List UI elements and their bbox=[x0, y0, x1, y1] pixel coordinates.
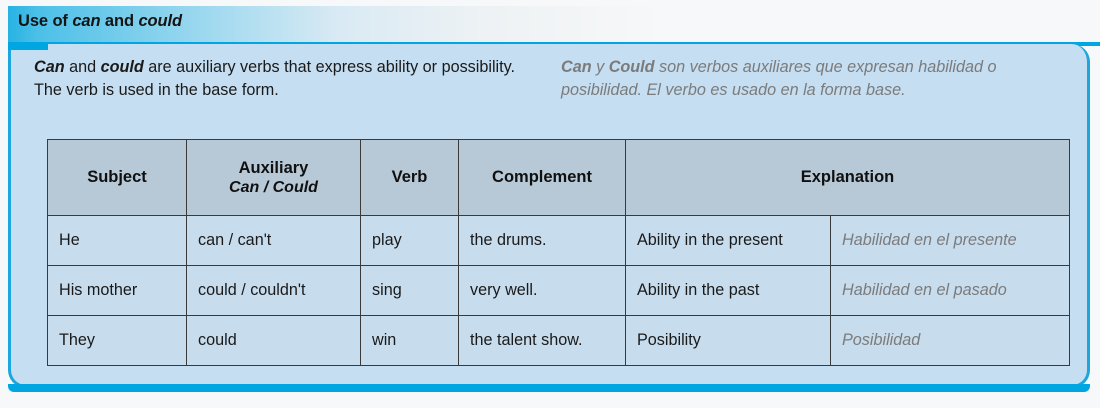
cell-explanation-es: Habilidad en el presente bbox=[831, 216, 1070, 266]
cell-explanation-en: Ability in the past bbox=[626, 266, 831, 316]
cell-explanation-en: Posibility bbox=[626, 316, 831, 366]
column-header-explanation: Explanation bbox=[626, 140, 1070, 216]
intro-section: Can and could are auxiliary verbs that e… bbox=[8, 56, 1090, 130]
cell-explanation-es: Posibilidad bbox=[831, 316, 1070, 366]
grammar-info-card: Use of can and could Can and could are a… bbox=[0, 0, 1100, 408]
intro-en-bold-can: Can bbox=[34, 58, 65, 76]
column-header-auxiliary: Auxiliary Can / Could bbox=[187, 140, 361, 216]
intro-en-mid: and bbox=[65, 58, 101, 76]
page-title-part-1: Use of bbox=[18, 12, 72, 30]
table-row: He can / can't play the drums. Ability i… bbox=[48, 216, 1070, 266]
column-header-verb: Verb bbox=[361, 140, 459, 216]
grammar-table: Subject Auxiliary Can / Could Verb Compl… bbox=[47, 139, 1070, 366]
cell-complement: the drums. bbox=[459, 216, 626, 266]
cell-verb: sing bbox=[361, 266, 459, 316]
panel-corner-fill bbox=[8, 42, 48, 50]
grammar-table-head: Subject Auxiliary Can / Could Verb Compl… bbox=[48, 140, 1070, 216]
column-header-subject: Subject bbox=[48, 140, 187, 216]
table-row: His mother could / couldn't sing very we… bbox=[48, 266, 1070, 316]
cell-explanation-en: Ability in the present bbox=[626, 216, 831, 266]
intro-es-mid: y bbox=[592, 58, 609, 76]
cell-verb: play bbox=[361, 216, 459, 266]
grammar-table-wrapper: Subject Auxiliary Can / Could Verb Compl… bbox=[47, 139, 1069, 366]
bottom-accent-band bbox=[8, 384, 1090, 392]
table-row: They could win the talent show. Posibili… bbox=[48, 316, 1070, 366]
intro-english-paragraph: Can and could are auxiliary verbs that e… bbox=[22, 56, 549, 130]
intro-es-bold-could: Could bbox=[609, 58, 655, 76]
cell-complement: very well. bbox=[459, 266, 626, 316]
cell-auxiliary: could bbox=[187, 316, 361, 366]
intro-es-bold-can: Can bbox=[561, 58, 592, 76]
cell-verb: win bbox=[361, 316, 459, 366]
page-title-part-3: and bbox=[100, 12, 138, 30]
cell-auxiliary: can / can't bbox=[187, 216, 361, 266]
column-header-auxiliary-main: Auxiliary bbox=[239, 159, 309, 177]
cell-explanation-es: Habilidad en el pasado bbox=[831, 266, 1070, 316]
page-title-part-2: can bbox=[72, 12, 100, 30]
page-title-part-4: could bbox=[138, 12, 182, 30]
intro-spanish-paragraph: Can y Could son verbos auxiliares que ex… bbox=[549, 56, 1076, 130]
cell-subject: They bbox=[48, 316, 187, 366]
intro-en-bold-could: could bbox=[101, 58, 144, 76]
column-header-auxiliary-sub: Can / Could bbox=[193, 179, 354, 197]
cell-complement: the talent show. bbox=[459, 316, 626, 366]
column-header-complement: Complement bbox=[459, 140, 626, 216]
grammar-table-body: He can / can't play the drums. Ability i… bbox=[48, 216, 1070, 366]
cell-subject: His mother bbox=[48, 266, 187, 316]
cell-auxiliary: could / couldn't bbox=[187, 266, 361, 316]
table-header-row: Subject Auxiliary Can / Could Verb Compl… bbox=[48, 140, 1070, 216]
page-title: Use of can and could bbox=[18, 12, 182, 31]
cell-subject: He bbox=[48, 216, 187, 266]
